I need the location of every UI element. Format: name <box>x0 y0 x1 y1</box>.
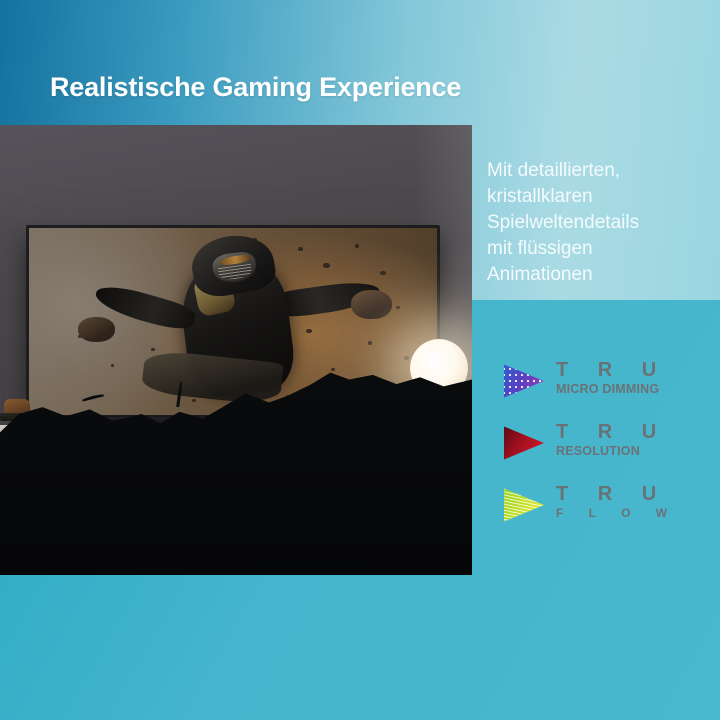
description-line: kristallklaren <box>487 184 702 210</box>
badge-tru-resolution: T R U RESOLUTION <box>498 417 688 479</box>
badge-brand-label: T R U <box>556 421 668 444</box>
tru-flow-triangle-icon <box>504 487 544 523</box>
feature-badge-list: T R U MICRO DIMMING T R U RESOLUTION T R… <box>498 355 688 541</box>
badge-brand-label: T R U <box>556 483 668 506</box>
badge-sub-label: F L O W <box>556 506 678 520</box>
character-right-fist <box>351 290 392 319</box>
character-left-fist <box>78 317 115 342</box>
badge-sub-label: RESOLUTION <box>556 444 640 458</box>
page-title: Realistische Gaming Experience <box>50 72 461 103</box>
badge-brand-label: T R U <box>556 359 668 382</box>
description-line: Animationen <box>487 262 702 288</box>
tru-resolution-triangle-icon <box>504 425 544 461</box>
hero-photo <box>0 125 472 575</box>
badge-sub-label: MICRO DIMMING <box>556 382 659 396</box>
description-line: Mit detaillierten, <box>487 158 702 184</box>
badge-tru-flow: T R U F L O W <box>498 479 688 541</box>
description-line: mit flüssigen <box>487 236 702 262</box>
description-line: Spielweltendetails <box>487 210 702 236</box>
badge-tru-micro-dimming: T R U MICRO DIMMING <box>498 355 688 417</box>
description-text: Mit detaillierten, kristallklaren Spielw… <box>487 158 702 288</box>
tru-micro-dimming-triangle-icon <box>504 363 544 399</box>
